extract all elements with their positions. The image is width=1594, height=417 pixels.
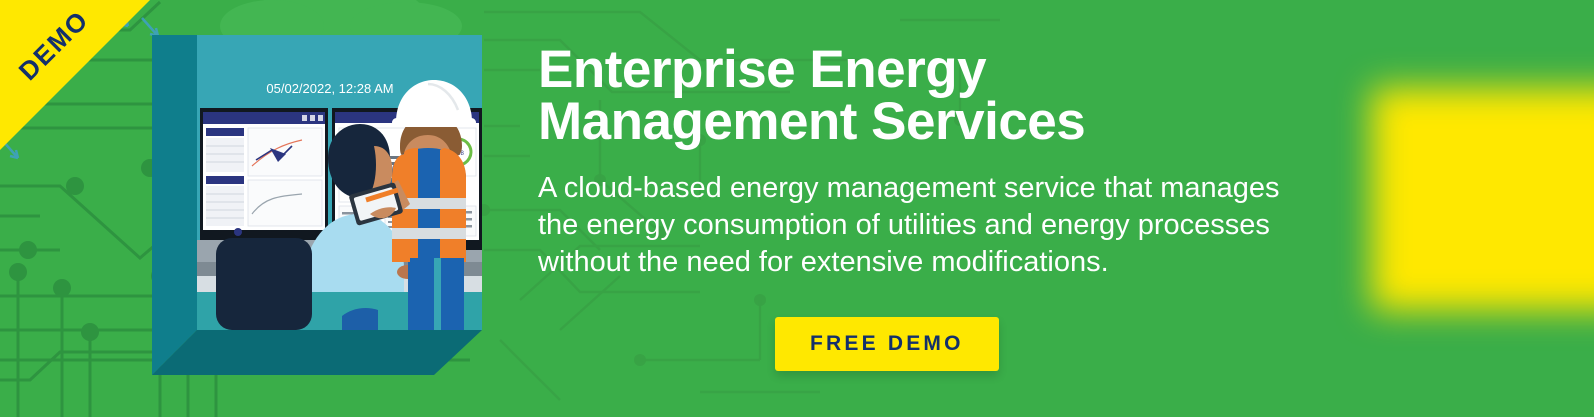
promo-banner: 05/02/2022, 12:28 AM: [0, 0, 1594, 417]
yellow-glow-accent: [1372, 88, 1594, 310]
illustration-timestamp: 05/02/2022, 12:28 AM: [266, 81, 393, 96]
left-monitor: [200, 108, 328, 240]
free-demo-button[interactable]: FREE DEMO: [775, 317, 999, 371]
cta-container: FREE DEMO: [775, 317, 999, 371]
control-room-illustration: 05/02/2022, 12:28 AM: [152, 0, 482, 380]
page-title: Enterprise Energy Management Services: [538, 44, 1338, 148]
demo-corner-ribbon: DEMO: [0, 0, 150, 150]
text-content-column: Enterprise Energy Management Services A …: [538, 44, 1338, 280]
description-text: A cloud-based energy management service …: [538, 148, 1338, 280]
